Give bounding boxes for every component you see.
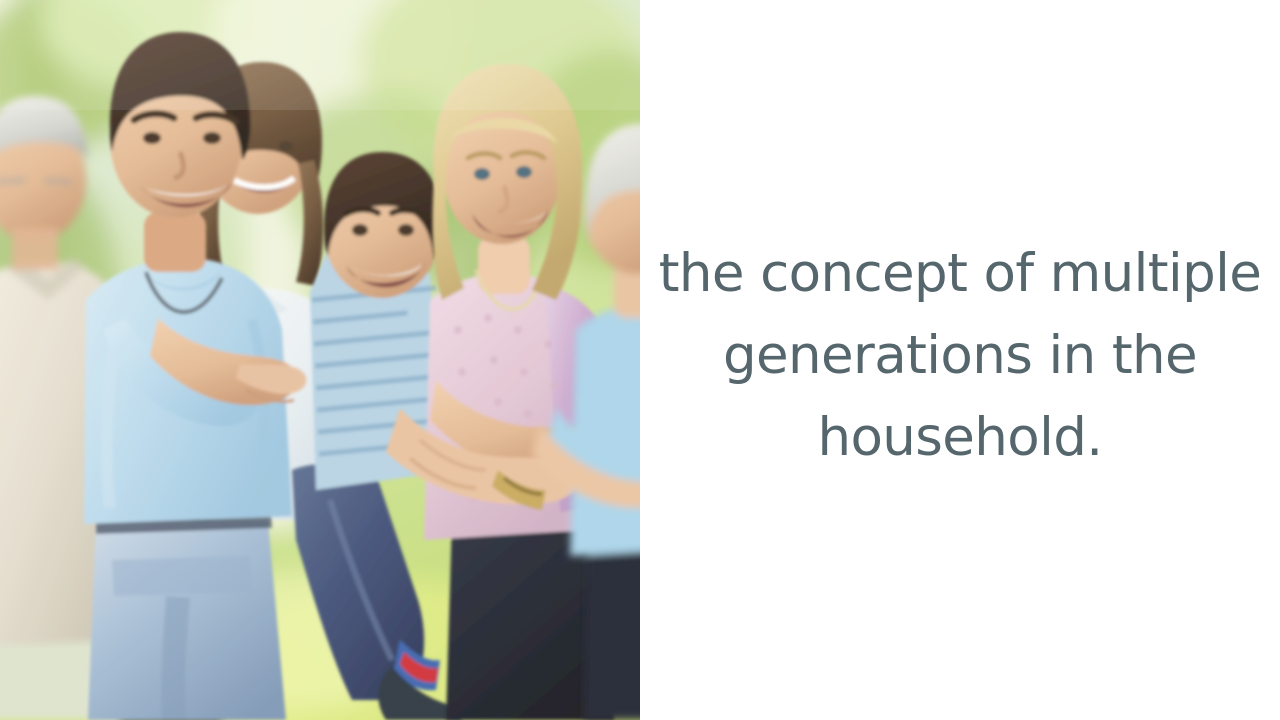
- caption-line-2: generations in the: [655, 315, 1265, 397]
- family-photo-panel: [0, 0, 640, 720]
- photo-stage: [0, 0, 640, 720]
- caption-line-1: the concept of multiple: [655, 233, 1265, 315]
- caption-text: the concept of multiple generations in t…: [655, 233, 1265, 479]
- slide-root: the concept of multiple generations in t…: [0, 0, 1280, 720]
- caption-line-3: household.: [655, 397, 1265, 479]
- family-photo-image: [0, 0, 640, 720]
- caption-panel: the concept of multiple generations in t…: [640, 0, 1280, 720]
